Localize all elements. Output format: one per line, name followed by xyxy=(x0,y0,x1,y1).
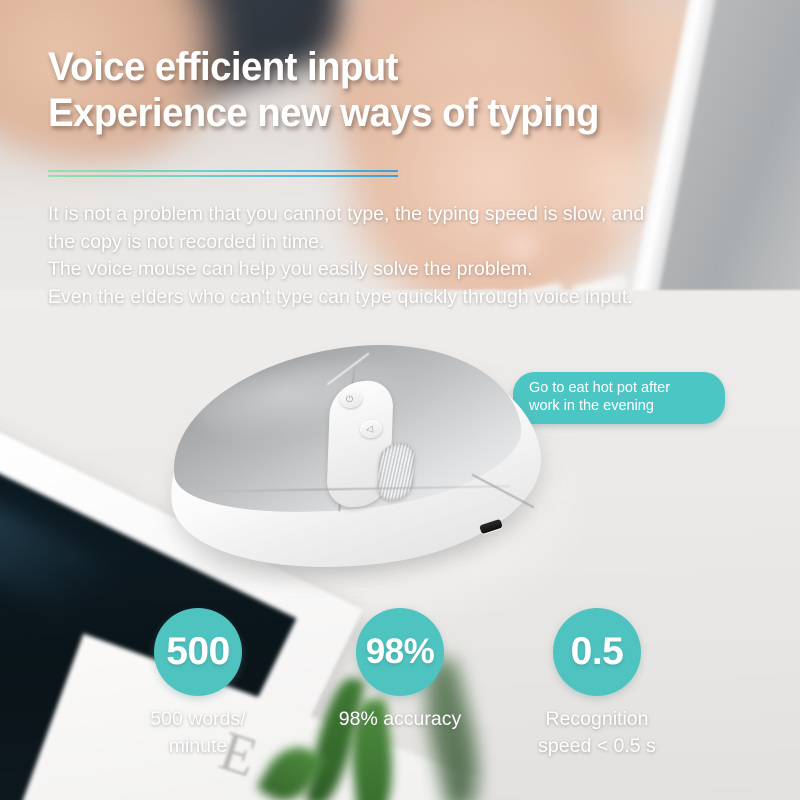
body-line-four: Even the elders who can't type can type … xyxy=(48,284,758,312)
stat-caption-line-two: speed < 0.5 s xyxy=(497,733,697,760)
wireless-voice-mouse: ⏻ ◁ xyxy=(150,340,570,600)
divider-line-bottom xyxy=(48,175,398,177)
headline: Voice efficient input Experience new way… xyxy=(48,44,720,136)
stat-caption: 500 words/ minute xyxy=(98,706,298,760)
stat-caption-line-two: minute xyxy=(98,733,298,760)
stat-caption-line-one: 500 words/ xyxy=(98,706,298,733)
stat-circle-value: 500 xyxy=(154,608,242,696)
stat-circle-value: 98% xyxy=(356,608,444,696)
product-marketing-poster: E Voice efficient input Experience new w… xyxy=(0,0,800,800)
stat-caption: 98% accuracy xyxy=(300,706,500,733)
body-copy: It is not a problem that you cannot type… xyxy=(48,201,758,311)
body-line-two: the copy is not recorded in time. xyxy=(48,229,758,257)
stat-accuracy: 98% 98% accuracy xyxy=(300,608,500,733)
stat-caption: Recognition speed < 0.5 s xyxy=(497,706,697,760)
voice-icon: ◁ xyxy=(365,425,373,435)
stat-caption-line-one: Recognition xyxy=(497,706,697,733)
stat-words-per-minute: 500 500 words/ minute xyxy=(98,608,298,760)
stat-caption-line-one: 98% accuracy xyxy=(300,706,500,733)
body-line-three: The voice mouse can help you easily solv… xyxy=(48,256,758,284)
headline-line-one: Voice efficient input xyxy=(48,45,398,89)
power-icon: ⏻ xyxy=(345,395,353,405)
gradient-divider xyxy=(48,170,398,177)
body-line-one: It is not a problem that you cannot type… xyxy=(48,201,758,229)
stat-circle-value: 0.5 xyxy=(553,608,641,696)
stat-recognition-speed: 0.5 Recognition speed < 0.5 s xyxy=(497,608,697,760)
headline-line-two: Experience new ways of typing xyxy=(48,90,720,136)
divider-line-top xyxy=(48,170,398,172)
